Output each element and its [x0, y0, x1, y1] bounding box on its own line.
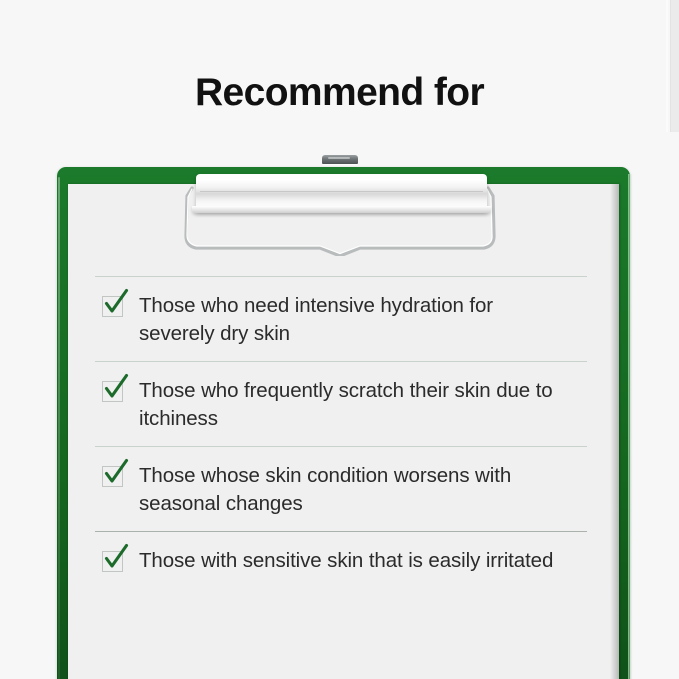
clipboard-right-edge-highlight: [628, 174, 632, 679]
list-item[interactable]: Those with sensitive skin that is easily…: [95, 532, 587, 588]
list-item-label: Those who need intensive hydration for s…: [139, 292, 569, 348]
clipboard-paper-shadow: [610, 184, 619, 679]
list-item[interactable]: Those who need intensive hydration for s…: [95, 277, 587, 361]
list-item[interactable]: Those whose skin condition worsens with …: [95, 447, 587, 531]
list-item-label: Those who frequently scratch their skin …: [139, 377, 569, 433]
check-mark-icon[interactable]: [102, 296, 123, 317]
list-item-label: Those with sensitive skin that is easily…: [139, 547, 553, 575]
check-mark-icon[interactable]: [102, 551, 123, 572]
recommendation-checklist: Those who need intensive hydration for s…: [95, 276, 587, 588]
list-item[interactable]: Those who frequently scratch their skin …: [95, 362, 587, 446]
check-mark-icon[interactable]: [102, 381, 123, 402]
clip-tab-highlight: [328, 157, 350, 159]
clip-lower-lip: [192, 206, 491, 213]
list-item-label: Those whose skin condition worsens with …: [139, 462, 569, 518]
page-title: Recommend for: [0, 72, 679, 115]
clip-seam-line: [200, 191, 483, 192]
product-infographic-canvas: Recommend for Those who need intensive h…: [0, 0, 679, 679]
check-mark-icon[interactable]: [102, 466, 123, 487]
